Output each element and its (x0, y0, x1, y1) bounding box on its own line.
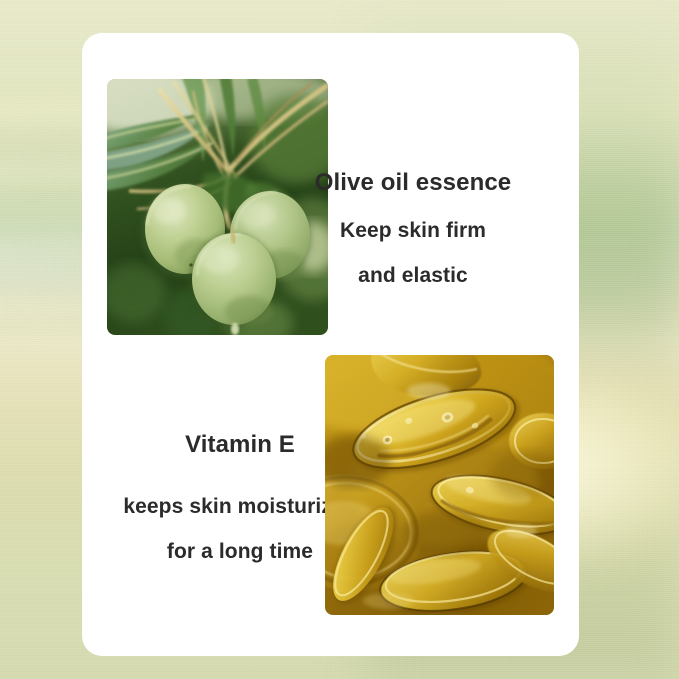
olive-oil-title: Olive oil essence (268, 169, 558, 197)
olive-oil-line-2: and elastic (268, 264, 558, 288)
olive-branch-photo (107, 79, 328, 335)
content-card: Olive oil essence Keep skin firm and ela… (82, 33, 579, 656)
vitamin-e-capsules-photo (325, 355, 554, 615)
infographic-canvas: Olive oil essence Keep skin firm and ela… (0, 0, 679, 679)
olive-oil-line-1: Keep skin firm (268, 219, 558, 243)
